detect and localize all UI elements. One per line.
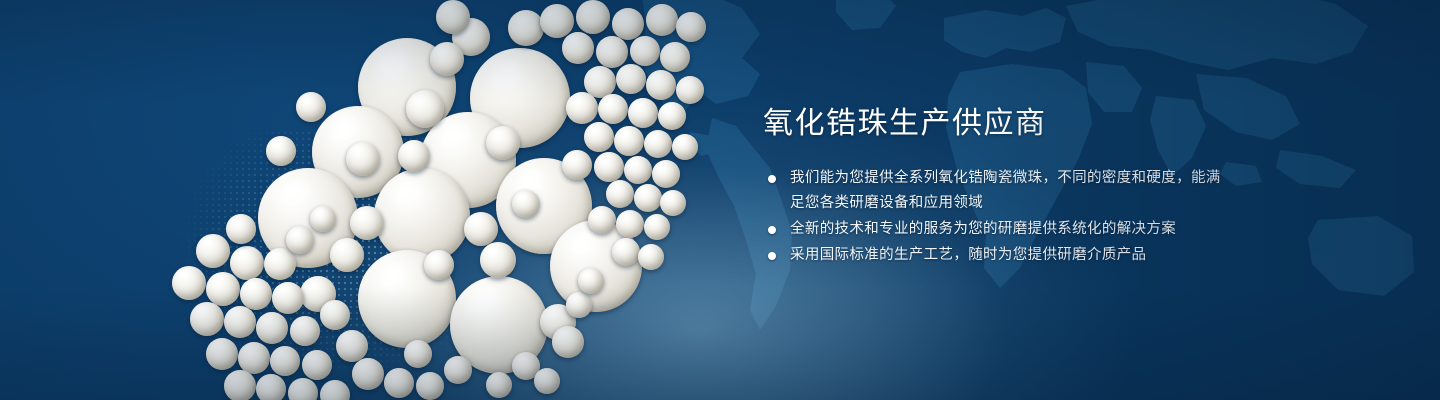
hero-banner: 氧化锆珠生产供应商 我们能为您提供全系列氧化锆陶瓷微珠，不同的密度和硬度，能满足… bbox=[0, 0, 1440, 400]
banner-vignette bbox=[0, 0, 1440, 400]
